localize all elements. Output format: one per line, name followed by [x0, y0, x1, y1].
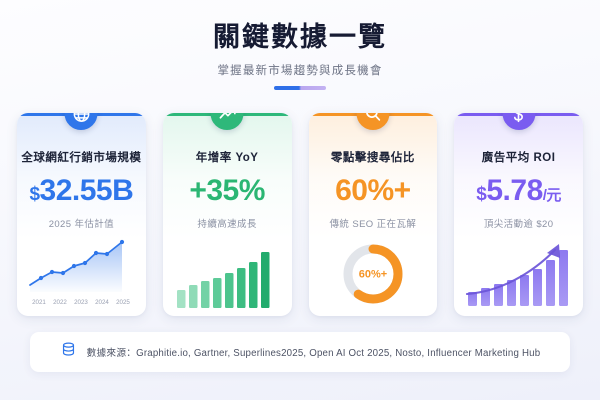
card-note: 2025 年估計值 — [17, 216, 146, 230]
data-source-text: 數據來源：Graphitie.io, Gartner, Superlines20… — [87, 345, 541, 359]
value-prefix: + — [189, 174, 206, 207]
card-note: 傳統 SEO 正在瓦解 — [309, 216, 438, 230]
donut-chart-zero-click: 60%+ — [309, 236, 438, 308]
value-main: 60%+ — [335, 174, 411, 207]
line-chart-market-size: 2021 2022 2023 2024 2025 — [17, 236, 146, 308]
donut-center-label: 60%+ — [359, 269, 387, 281]
title-divider — [274, 86, 326, 90]
trending-up-icon — [211, 113, 244, 130]
x-tick-2023: 2023 — [74, 299, 88, 306]
globe-icon — [65, 113, 98, 130]
stat-card-market-size[interactable]: 全球網紅行銷市場規模 $32.55B 2025 年估計值 — [17, 113, 146, 316]
card-title: 零點擊搜尋佔比 — [309, 149, 438, 165]
value-prefix: $ — [476, 184, 486, 205]
header: 關鍵數據一覽 掌握最新市場趨勢與成長機會 — [0, 0, 600, 90]
page-subtitle: 掌握最新市場趨勢與成長機會 — [0, 62, 600, 78]
card-title: 廣告平均 ROI — [454, 149, 583, 165]
card-note: 頂尖活動逾 $20 — [454, 216, 583, 230]
search-icon — [356, 113, 389, 130]
card-title: 年增率 YoY — [163, 149, 292, 165]
page-title: 關鍵數據一覽 — [0, 22, 600, 53]
stat-card-zero-click[interactable]: 零點擊搜尋佔比 60%+ 傳統 SEO 正在瓦解 60%+ — [309, 113, 438, 316]
infographic-page: 關鍵數據一覽 掌握最新市場趨勢與成長機會 全球網紅行銷市場規模 $32.55B — [0, 0, 600, 400]
bar-chart-ad-roi — [454, 236, 583, 308]
value-prefix: $ — [29, 184, 39, 205]
data-source-bar: 數據來源：Graphitie.io, Gartner, Superlines20… — [30, 332, 570, 372]
card-value: $32.55B — [17, 176, 146, 206]
database-icon — [60, 341, 77, 363]
stat-card-yoy-growth[interactable]: 年增率 YoY +35% 持續高速成長 — [163, 113, 292, 316]
bar-chart-yoy — [163, 236, 292, 308]
card-value: 60%+ — [309, 176, 438, 206]
card-value: +35% — [163, 176, 292, 206]
value-main: 35% — [206, 174, 265, 207]
stat-card-row: 全球網紅行銷市場規模 $32.55B 2025 年估計值 — [17, 113, 583, 316]
card-note: 持續高速成長 — [163, 216, 292, 230]
card-title: 全球網紅行銷市場規模 — [17, 149, 146, 165]
value-main: 32.55B — [40, 174, 134, 207]
stat-card-ad-roi[interactable]: 廣告平均 ROI $5.78/元 頂尖活動逾 $20 — [454, 113, 583, 316]
value-main: 5.78 — [486, 174, 542, 207]
card-value: $5.78/元 — [454, 176, 583, 206]
x-tick-2022: 2022 — [53, 299, 67, 306]
x-tick-2021: 2021 — [32, 299, 46, 306]
value-unit: /元 — [543, 187, 561, 204]
x-tick-2025: 2025 — [116, 299, 130, 306]
dollar-icon — [502, 113, 535, 130]
x-tick-2024: 2024 — [95, 299, 109, 306]
